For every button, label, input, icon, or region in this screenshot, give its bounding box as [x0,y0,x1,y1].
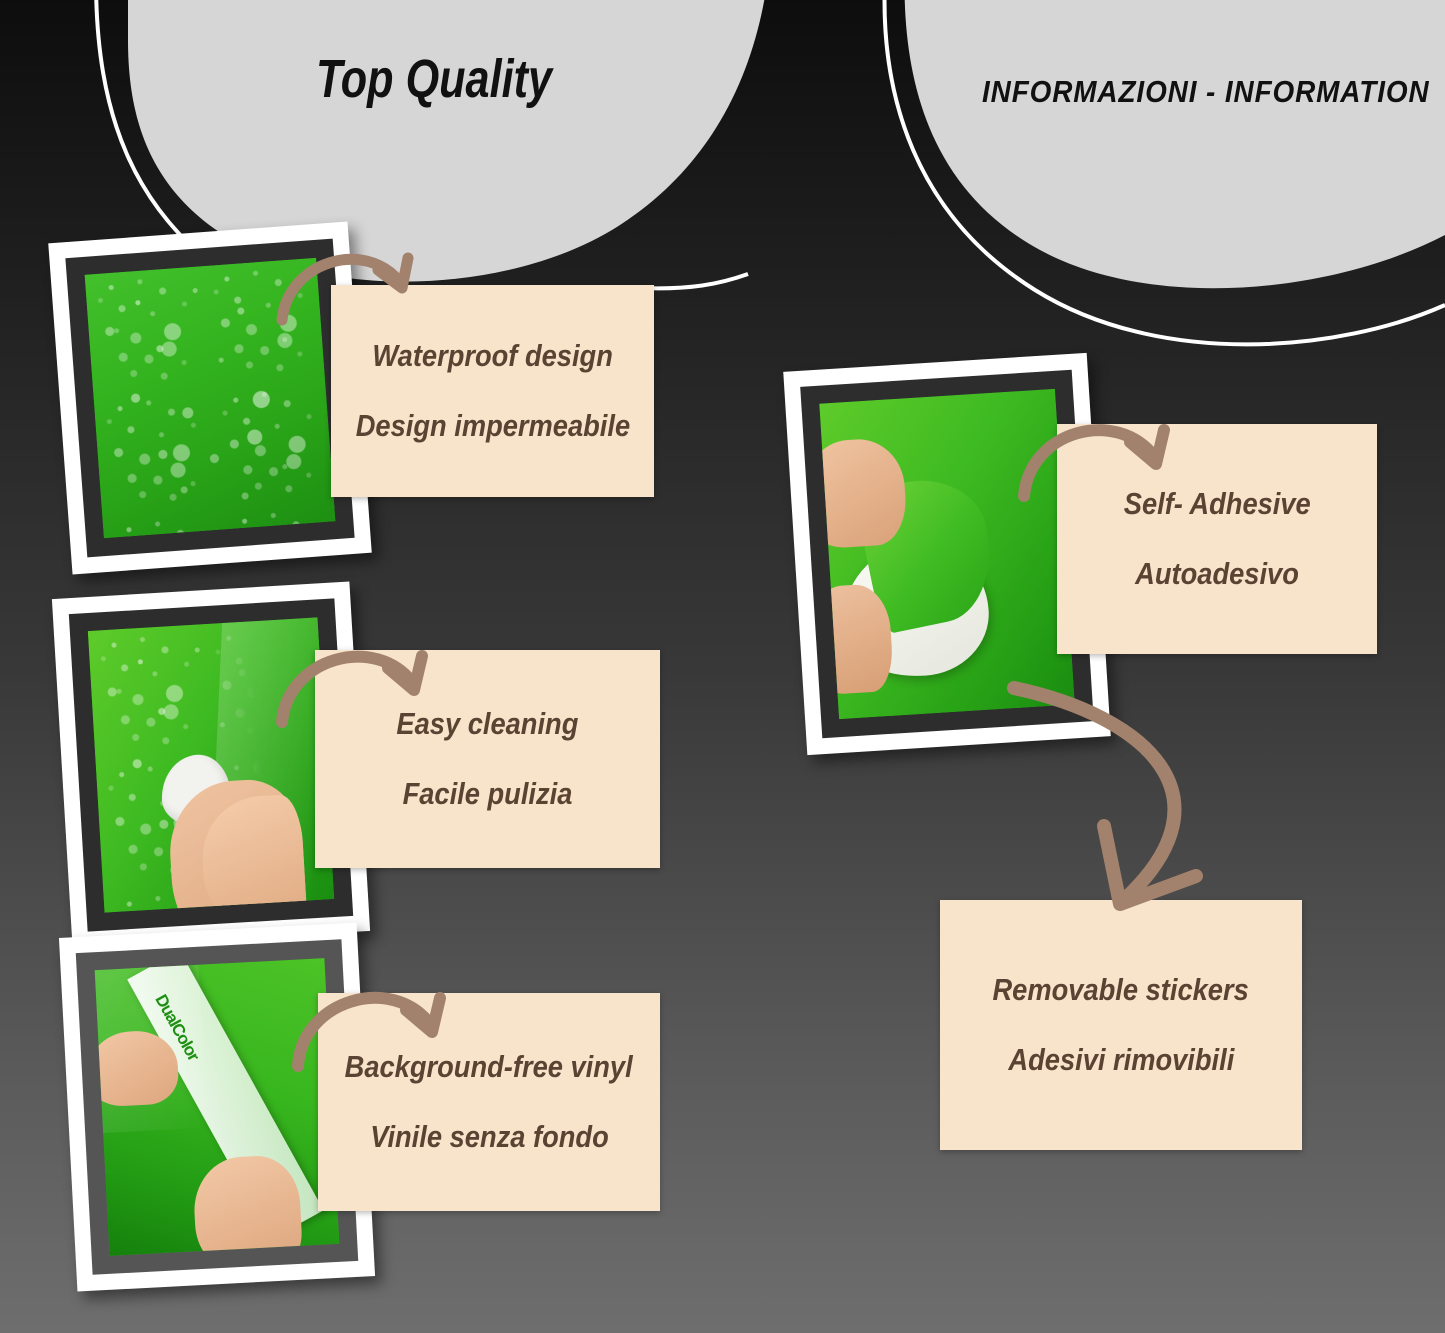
arrow-to-background-free-card [288,972,468,1072]
feature-label-it: Autoadesivo [1135,557,1299,591]
arrow-to-waterproof-card [268,236,438,326]
feature-label-it: Adesivi rimovibili [1008,1043,1234,1077]
feature-label-en: Removable stickers [993,973,1249,1007]
arrow-to-easy-cleaning-card [272,630,452,730]
arrow-to-self-adhesive-card [1014,404,1194,504]
feature-label-it: Design impermeabile [355,409,629,443]
page-title: Top Quality [316,48,552,110]
infographic-canvas: Top Quality INFORMAZIONI - INFORMATION W… [0,0,1445,1333]
header-blob-right [904,0,1445,288]
feature-label-en: Waterproof design [372,339,612,373]
feature-card-removable: Removable stickers Adesivi rimovibili [940,900,1302,1150]
header-outline-segment [640,274,748,288]
arrow-to-removable-card [996,676,1236,926]
feature-label-it: Vinile senza fondo [370,1120,608,1154]
feature-label-it: Facile pulizia [403,777,573,811]
page-subtitle: INFORMAZIONI - INFORMATION [982,74,1430,110]
